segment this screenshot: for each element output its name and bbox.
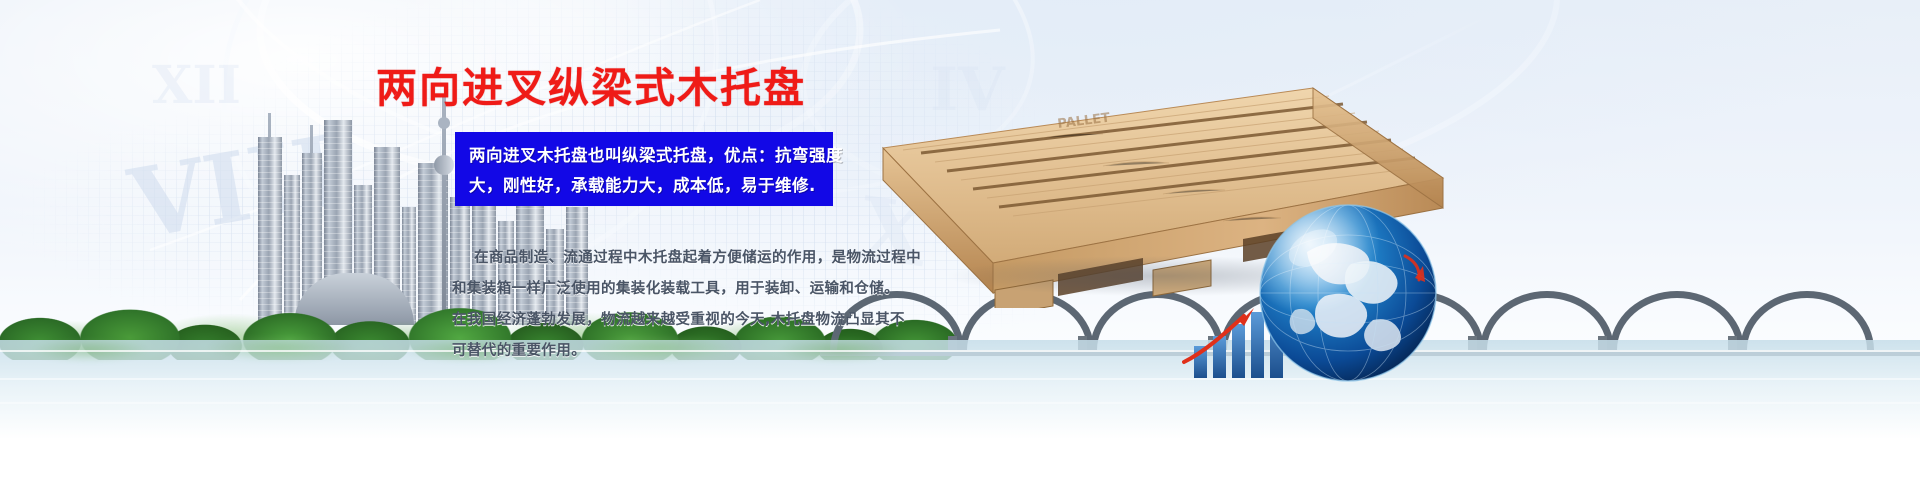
earth-globe [1255,200,1441,386]
callout-line-1: 两向进叉木托盘也叫纵梁式托盘，优点：抗弯强度 [469,141,819,171]
body-paragraph-3: 在我国经济蓬勃发展，物流越来越受重视的今天,木托盘物流凸显其不 [452,305,872,336]
body-copy: 在商品制造、流通过程中木托盘起着方便储运的作用，是物流过程中 和集装箱一样广泛使… [452,243,872,367]
page-title: 两向进叉纵梁式木托盘 [376,54,806,114]
watermark-numeral-2: XII [152,60,241,112]
body-paragraph-1: 在商品制造、流通过程中木托盘起着方便储运的作用，是物流过程中 [452,243,872,274]
highlight-callout-box: 两向进叉木托盘也叫纵梁式托盘，优点：抗弯强度 大，刚性好，承载能力大，成本低，易… [455,132,833,206]
body-paragraph-4: 可替代的重要作用。 [452,336,872,367]
product-banner: VIII XII X IV [0,0,1920,500]
body-paragraph-2: 和集装箱一样广泛使用的集装化装载工具，用于装卸、运输和仓储。 [452,274,872,305]
callout-line-2: 大，刚性好，承载能力大，成本低，易于维修. [469,171,819,201]
